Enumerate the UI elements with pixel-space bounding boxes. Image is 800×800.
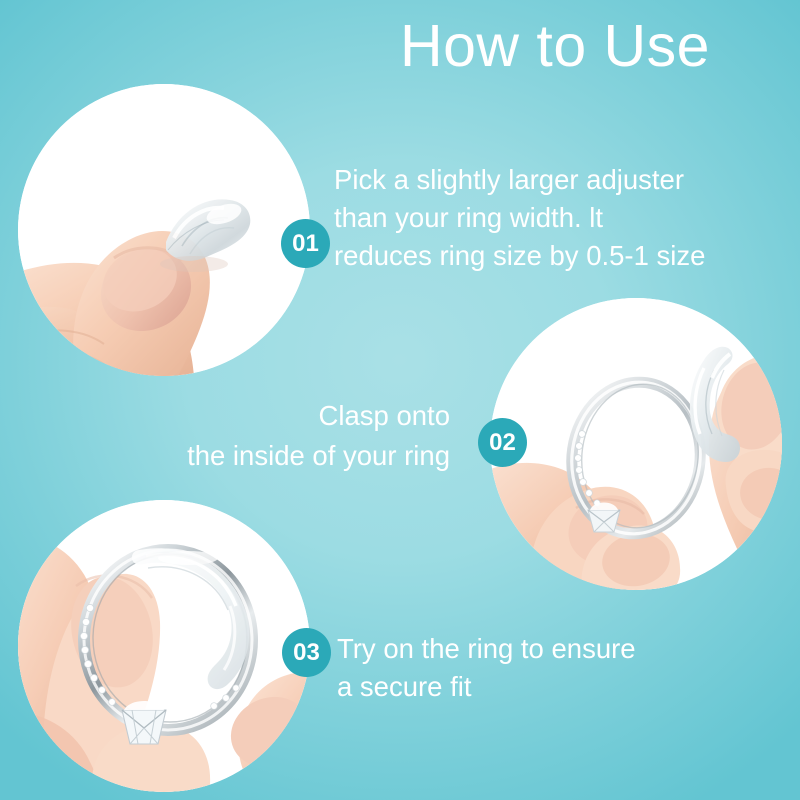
- step-1-line-2: than your ring width. lt: [334, 199, 754, 237]
- step-1-line-1: Pick a slightly larger adjuster: [334, 161, 754, 199]
- step-2-caption-line-2: the inside of your ring: [60, 436, 450, 476]
- step-1-badge: 01: [281, 219, 330, 268]
- step-1-number: 01: [292, 230, 319, 258]
- step-3-photo: [18, 500, 310, 792]
- step-1-photo: [18, 84, 310, 376]
- step-2-number: 02: [489, 429, 516, 457]
- step-3-line-2: a secure fit: [337, 668, 737, 706]
- step-3-number: 03: [293, 639, 320, 667]
- step-2-photo: [490, 298, 782, 590]
- how-to-use-infographic: How to Use: [0, 0, 800, 800]
- step-2-caption-line-1: Clasp onto: [60, 396, 450, 436]
- page-title: How to Use: [330, 14, 780, 79]
- step-2-badge: 02: [478, 418, 527, 467]
- step-3-badge: 03: [282, 628, 331, 677]
- step-2-caption: Clasp onto the inside of your ring: [60, 396, 450, 476]
- step-3-line-1: Try on the ring to ensure: [337, 630, 737, 668]
- step-1-line-3: reduces ring size by 0.5-1 size: [334, 237, 754, 275]
- step-1-text: Pick a slightly larger adjuster than you…: [334, 161, 754, 275]
- step-3-text: Try on the ring to ensure a secure fit: [337, 630, 737, 706]
